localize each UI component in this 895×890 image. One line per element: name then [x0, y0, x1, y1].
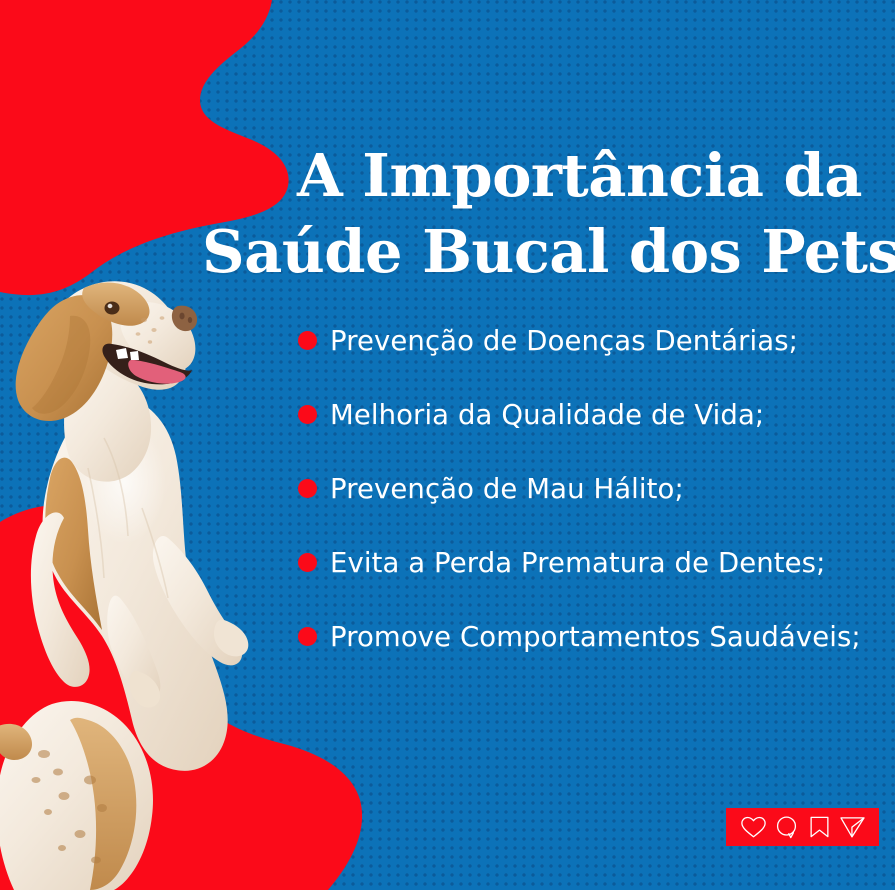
- comment-bubble-icon[interactable]: [771, 814, 802, 840]
- list-item: Prevenção de Doenças Dentárias;: [298, 320, 878, 361]
- benefits-list: Prevenção de Doenças Dentárias; Melhoria…: [298, 320, 878, 657]
- dog-photo: [0, 268, 292, 890]
- bullet-dot-icon: [298, 405, 317, 424]
- benefit-label: Evita a Perda Prematura de Dentes;: [330, 547, 825, 579]
- social-media-poster: A Importância da Saúde Bucal dos Pets! P…: [0, 0, 895, 890]
- heart-icon[interactable]: [738, 814, 769, 840]
- list-item: Promove Comportamentos Saudáveis;: [298, 616, 878, 657]
- bookmark-icon[interactable]: [804, 814, 835, 840]
- benefit-label: Prevenção de Mau Hálito;: [330, 473, 684, 505]
- bullet-dot-icon: [298, 553, 317, 572]
- page-title: A Importância da Saúde Bucal dos Pets!: [202, 138, 862, 290]
- bullet-dot-icon: [298, 479, 317, 498]
- list-item: Prevenção de Mau Hálito;: [298, 468, 878, 509]
- benefit-label: Melhoria da Qualidade de Vida;: [330, 399, 764, 431]
- bullet-dot-icon: [298, 627, 317, 646]
- social-actions-badge: [726, 808, 879, 846]
- benefit-label: Promove Comportamentos Saudáveis;: [330, 621, 861, 653]
- headline-line-2: Saúde Bucal dos Pets!: [202, 214, 862, 290]
- bullet-dot-icon: [298, 331, 317, 350]
- benefit-label: Prevenção de Doenças Dentárias;: [330, 325, 798, 357]
- headline-line-1: A Importância da: [202, 138, 862, 214]
- send-paper-plane-icon[interactable]: [837, 814, 868, 840]
- list-item: Evita a Perda Prematura de Dentes;: [298, 542, 878, 583]
- list-item: Melhoria da Qualidade de Vida;: [298, 394, 878, 435]
